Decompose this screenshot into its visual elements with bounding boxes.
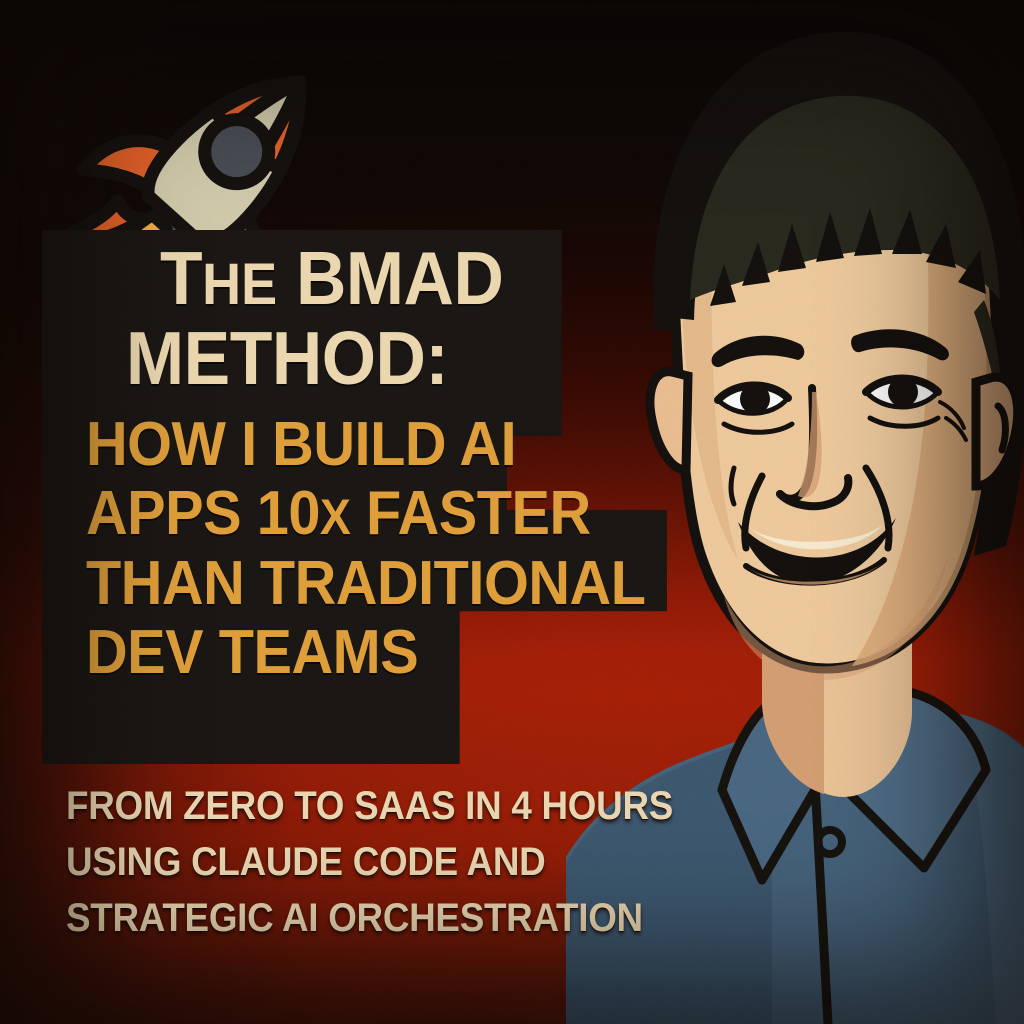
eye-left [718, 384, 788, 414]
subtitle-group: FROM ZERO TO SAAS IN 4 HOURS USING CLAUD… [66, 786, 766, 954]
headline-line-1-lead: T [160, 236, 202, 320]
headline-line-1-main: BMAD [277, 236, 503, 320]
headline-line-4: APPS 10X FASTER [86, 485, 659, 543]
headline-line-4-multiplier: X [320, 489, 351, 545]
headline-line-4-b: FASTER [350, 479, 590, 548]
subtitle-line-2: USING CLAUDE CODE AND [66, 842, 710, 882]
subtitle-line-1: FROM ZERO TO SAAS IN 4 HOURS [66, 786, 710, 826]
poster-canvas: THE BMAD METHOD: HOW I BUILD AI APPS 10X… [0, 0, 1024, 1024]
headline-line-6: DEV TEAMS [86, 624, 659, 682]
headline-line-2: METHOD: [126, 324, 662, 394]
headline-group: THE BMAD METHOD: HOW I BUILD AI APPS 10X… [42, 230, 702, 682]
head-group [650, 32, 1024, 681]
eye-right [866, 377, 938, 407]
headline-line-1-lead-rest: HE [202, 252, 277, 317]
headline-line-4-a: APPS 10 [86, 479, 320, 548]
headline-line-1: THE BMAD [160, 244, 664, 314]
headline-line-5: THAN TRADITIONAL [86, 555, 659, 613]
headline-line-3: HOW I BUILD AI [86, 416, 659, 474]
subtitle-line-3: STRATEGIC AI ORCHESTRATION [66, 898, 710, 938]
